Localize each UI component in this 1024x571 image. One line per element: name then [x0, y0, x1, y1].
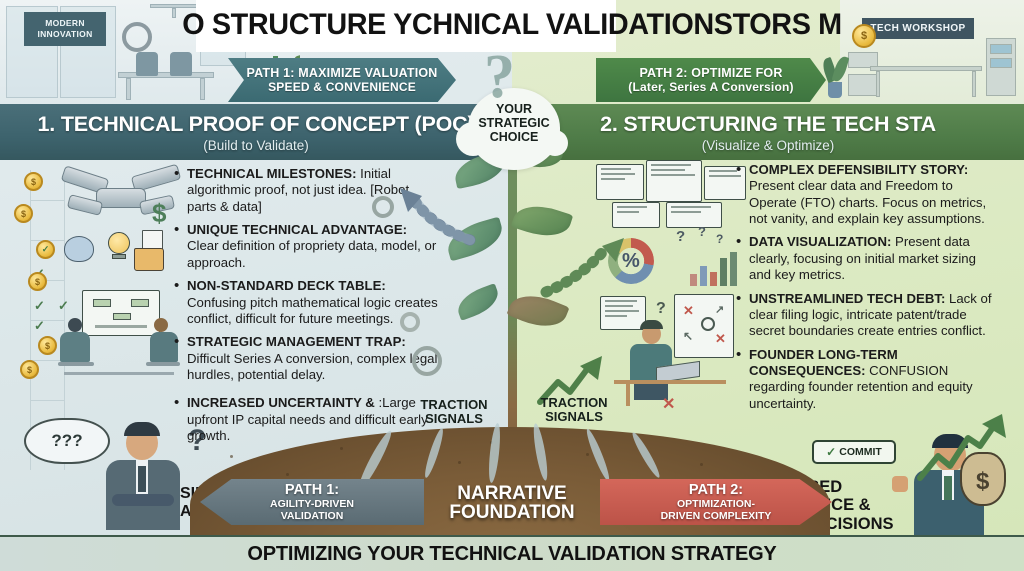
lightbulb-base	[112, 254, 126, 259]
brain-icon	[64, 236, 94, 262]
bullet-label: UNSTREAMLINED TECH DEBT:	[749, 291, 945, 306]
section-subtitle-tech-stack: (Visualize & Optimize)	[702, 138, 835, 153]
path-1-ribbon-line-1: PATH 1: MAXIMIZE VALUATION	[246, 66, 437, 81]
question-mark-icon: ?	[716, 232, 723, 246]
question-mark-icon: ?	[698, 224, 706, 239]
bullet-label: NON-STANDARD DECK TABLE:	[187, 278, 386, 293]
bullet-label: UNIQUE TECHNICAL ADVANTAGE:	[187, 222, 407, 237]
list-item: STRATEGIC MANAGEMENT TRAP: Difficult Ser…	[174, 334, 438, 383]
coin-icon: $	[14, 204, 33, 223]
bullet-text: Difficult Series A conversion, complex l…	[187, 351, 437, 382]
bullet-label: DATA VISUALIZATION:	[749, 234, 891, 249]
path-1-ground-title: PATH 1:	[285, 482, 339, 498]
list-item: FOUNDER LONG-TERM CONSEQUENCES: CONFUSIO…	[736, 347, 1000, 412]
check-icon: ✓	[34, 318, 45, 334]
check-icon: ✓	[34, 298, 45, 314]
question-mark-icon: ?	[656, 300, 666, 318]
path-1-sub-line-1: AGILITY-DRIVEN	[270, 498, 354, 510]
choice-line-1: YOUR	[468, 102, 560, 116]
page-title: O STRUCTURE YCHNICAL VALIDATIONSTORS M	[20, 8, 1003, 42]
dashboard-cards-illustration	[596, 160, 746, 230]
path-1-ground-arrow: PATH 1: AGILITY-DRIVEN VALIDATION	[200, 479, 424, 525]
section-title-poc: 1. TECHNICAL PROOF OF CONCEPT (POC)	[38, 112, 475, 137]
path-2-sub-line-1: OPTIMIZATION-	[677, 498, 755, 510]
gear-icon	[400, 312, 420, 332]
path-2-sub-line-2: DRIVEN COMPLEXITY	[661, 510, 772, 522]
path-2-ground-sub: OPTIMIZATION- DRIVEN COMPLEXITY	[661, 499, 772, 522]
section-subtitle-poc: (Build to Validate)	[203, 138, 309, 153]
traction-left-line-1: TRACTION	[412, 398, 496, 412]
path-2-ground-arrow: PATH 2: OPTIMIZATION- DRIVEN COMPLEXITY	[600, 479, 832, 525]
coin-icon: $	[28, 272, 47, 291]
section-header-tech-stack: 2. STRUCTURING THE TECH STA (Visualize &…	[512, 104, 1024, 160]
bar-chart-icon	[690, 252, 737, 286]
choice-line-3: CHOICE	[468, 130, 560, 144]
traction-right-line-1: TRACTION	[530, 396, 618, 410]
path-1-ribbon-line-2: SPEED & CONVENIENCE	[268, 80, 416, 94]
question-mark-icon: ?	[676, 228, 685, 245]
list-item: COMPLEX DEFENSIBILITY STORY: Present cle…	[736, 162, 1000, 227]
section-header-poc: 1. TECHNICAL PROOF OF CONCEPT (POC) (Bui…	[0, 104, 512, 160]
path-2-ribbon: PATH 2: OPTIMIZE FOR (Later, Series A Co…	[596, 58, 826, 102]
list-item: UNSTREAMLINED TECH DEBT: Lack of clear f…	[736, 291, 1000, 340]
coin-icon: ✓	[36, 240, 55, 259]
path-2-ground-title: PATH 2:	[689, 482, 743, 498]
path-2-ribbon-line-2: (Later, Series A Conversion)	[628, 80, 793, 94]
section-title-tech-stack: 2. STRUCTURING THE TECH STA	[600, 112, 936, 137]
traction-arrow-left	[396, 188, 476, 248]
meeting-whiteboard-illustration	[58, 290, 180, 386]
path-1-ribbon: PATH 1: MAXIMIZE VALUATION SPEED & CONVE…	[228, 58, 456, 102]
bullet-label: TECHNICAL MILESTONES:	[187, 166, 357, 181]
traction-arrow-right	[540, 236, 628, 298]
footer-text: OPTIMIZING YOUR TECHNICAL VALIDATION STR…	[247, 543, 776, 566]
list-item: NON-STANDARD DECK TABLE: Confusing pitch…	[174, 278, 438, 327]
coin-icon: $	[24, 172, 43, 191]
traction-arrow-left-lower	[572, 248, 582, 258]
bullet-text: Present clear data and Freedom to Operat…	[749, 178, 986, 226]
coin-icon: $	[20, 360, 39, 379]
footer-banner: OPTIMIZING YOUR TECHNICAL VALIDATION STR…	[0, 535, 1024, 571]
plant-icon	[828, 82, 842, 98]
lightbulb-icon	[108, 232, 130, 254]
gear-icon	[412, 346, 442, 376]
gear-icon	[372, 196, 394, 218]
bullet-label: INCREASED UNCERTAINTY &	[187, 395, 375, 410]
strategic-choice-label: YOUR STRATEGIC CHOICE	[468, 102, 560, 144]
narrative-line-2: FOUNDATION	[432, 503, 592, 523]
infographic-canvas: MODERN INNOVATION $ $ TECH WORKSHOP $ O …	[0, 0, 1024, 571]
tech-stack-bullet-list: COMPLEX DEFENSIBILITY STORY: Present cle…	[736, 162, 1000, 419]
list-item: DATA VISUALIZATION: Present data clearly…	[736, 234, 1000, 283]
developer-at-desk-illustration: ✕ ↗ ↖ ✕ ? ✕	[600, 296, 740, 406]
dollar-sign-icon: $	[152, 198, 166, 229]
bullet-label: STRATEGIC MANAGEMENT TRAP:	[187, 334, 406, 349]
choice-line-2: STRATEGIC	[468, 116, 560, 130]
bullet-label: COMPLEX DEFENSIBILITY STORY:	[749, 162, 968, 177]
coin-icon: $	[38, 336, 57, 355]
path-1-sub-line-2: VALIDATION	[281, 510, 344, 522]
folder-icon	[134, 248, 164, 271]
path-2-ribbon-line-1: PATH 2: OPTIMIZE FOR	[639, 66, 782, 81]
narrative-foundation-label: NARRATIVE FOUNDATION	[432, 484, 592, 524]
path-1-ground-sub: AGILITY-DRIVEN VALIDATION	[270, 499, 354, 522]
narrative-line-1: NARRATIVE	[432, 484, 592, 504]
